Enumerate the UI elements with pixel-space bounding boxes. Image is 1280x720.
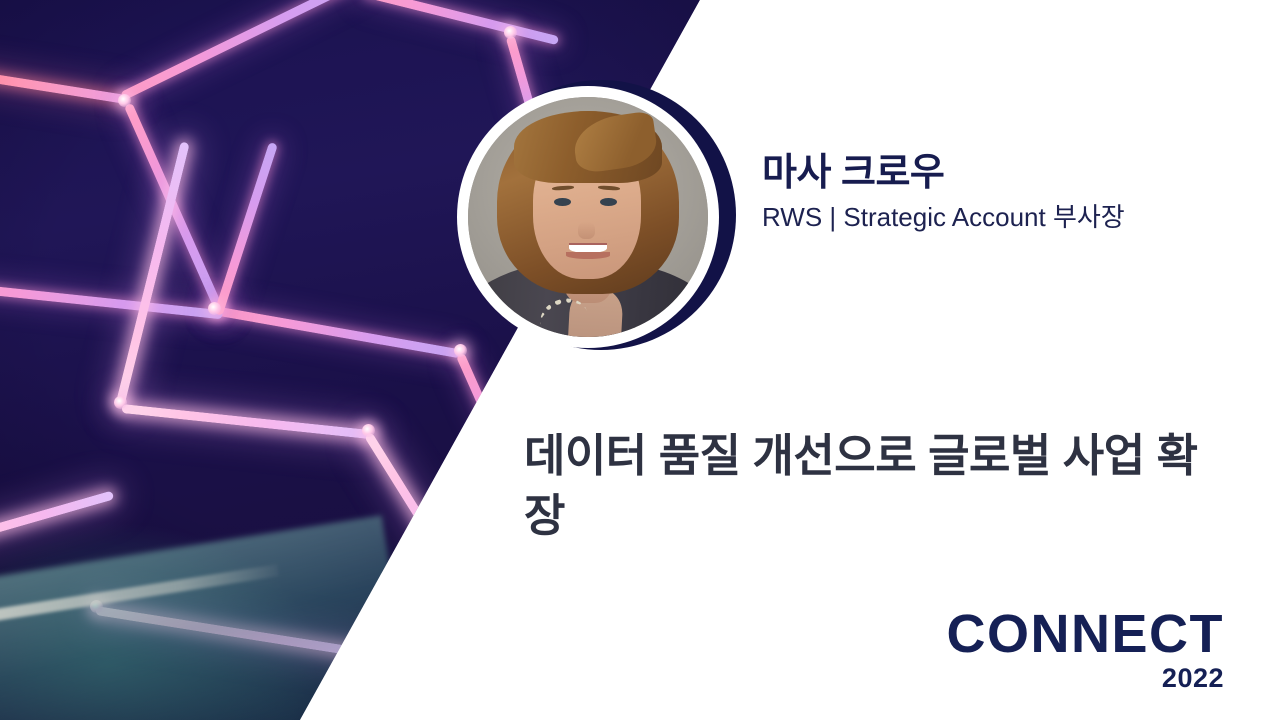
presentation-slide: 마사 크로우 RWS | Strategic Account 부사장 데이터 품… (0, 0, 1280, 720)
neon-node (114, 396, 127, 409)
speaker-role: RWS | Strategic Account 부사장 (762, 202, 1125, 233)
neon-node (454, 344, 467, 357)
neon-node (504, 26, 517, 39)
neon-node (386, 634, 399, 647)
logo-year: 2022 (947, 665, 1225, 692)
neon-tube (388, 642, 471, 720)
logo-wordmark: CONNECT (947, 607, 1225, 661)
decorative-image-panel (0, 0, 720, 720)
neon-node (362, 424, 375, 437)
neon-hexagon-photo (0, 0, 720, 720)
neon-node (208, 302, 221, 315)
connect-logo: CONNECT 2022 (947, 607, 1225, 692)
neon-node (118, 94, 131, 107)
speaker-info-block: 마사 크로우 RWS | Strategic Account 부사장 (762, 152, 1125, 233)
speaker-name: 마사 크로우 (762, 152, 1125, 196)
slide-title: 데이터 품질 개선으로 글로벌 사업 확장 (524, 426, 1204, 546)
